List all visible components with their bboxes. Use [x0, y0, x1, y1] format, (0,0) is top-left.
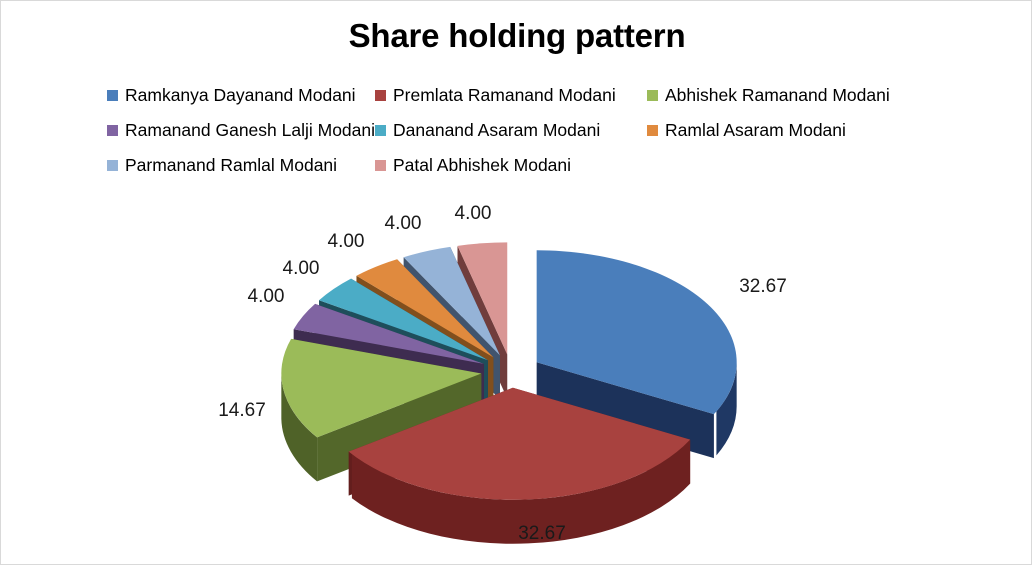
legend-color-swatch-icon — [107, 90, 118, 101]
legend-item[interactable]: Patal Abhishek Modani — [375, 153, 647, 177]
legend-item[interactable]: Premlata Ramanand Modani — [375, 83, 647, 107]
legend-item[interactable]: Parmanand Ramlal Modani — [107, 153, 375, 177]
legend-color-swatch-icon — [375, 125, 386, 136]
pie-data-label: 4.00 — [455, 203, 492, 225]
legend-item-label: Ramanand Ganesh Lalji Modani — [125, 120, 375, 140]
legend-row: Ramanand Ganesh Lalji ModaniDananand Asa… — [107, 118, 927, 153]
pie-data-label: 4.00 — [328, 231, 365, 253]
legend-item-label: Premlata Ramanand Modani — [393, 85, 616, 105]
chart-title: Share holding pattern — [1, 17, 1032, 55]
pie-data-label: 32.67 — [739, 276, 787, 298]
legend-item-label: Ramkanya Dayanand Modani — [125, 85, 356, 105]
pie-data-label: 32.67 — [518, 523, 566, 545]
pie-data-label: 4.00 — [283, 258, 320, 280]
legend-color-swatch-icon — [107, 160, 118, 171]
legend-item-label: Patal Abhishek Modani — [393, 155, 571, 175]
legend-item-label: Parmanand Ramlal Modani — [125, 155, 337, 175]
legend-color-swatch-icon — [375, 160, 386, 171]
legend-item[interactable]: Ramanand Ganesh Lalji Modani — [107, 118, 375, 142]
legend-row: Parmanand Ramlal ModaniPatal Abhishek Mo… — [107, 153, 927, 188]
legend-item-label: Ramlal Asaram Modani — [665, 120, 846, 140]
chart-legend: Ramkanya Dayanand ModaniPremlata Ramanan… — [107, 83, 927, 188]
legend-item[interactable]: Ramkanya Dayanand Modani — [107, 83, 375, 107]
legend-item[interactable]: Dananand Asaram Modani — [375, 118, 647, 142]
legend-item[interactable]: Ramlal Asaram Modani — [647, 118, 887, 142]
chart-container: Share holding pattern Ramkanya Dayanand … — [0, 0, 1032, 565]
legend-row: Ramkanya Dayanand ModaniPremlata Ramanan… — [107, 83, 927, 118]
pie-chart-svg — [1, 186, 1032, 565]
pie-data-label: 4.00 — [248, 286, 285, 308]
legend-item[interactable]: Abhishek Ramanand Modani — [647, 83, 887, 107]
pie-chart-plot-area: 32.6732.6714.674.004.004.004.004.00 — [1, 186, 1032, 565]
legend-color-swatch-icon — [375, 90, 386, 101]
pie-data-label: 4.00 — [385, 213, 422, 235]
pie-data-label: 14.67 — [218, 400, 266, 422]
legend-item-label: Dananand Asaram Modani — [393, 120, 600, 140]
legend-color-swatch-icon — [647, 125, 658, 136]
legend-item-label: Abhishek Ramanand Modani — [665, 85, 890, 105]
legend-color-swatch-icon — [647, 90, 658, 101]
legend-color-swatch-icon — [107, 125, 118, 136]
